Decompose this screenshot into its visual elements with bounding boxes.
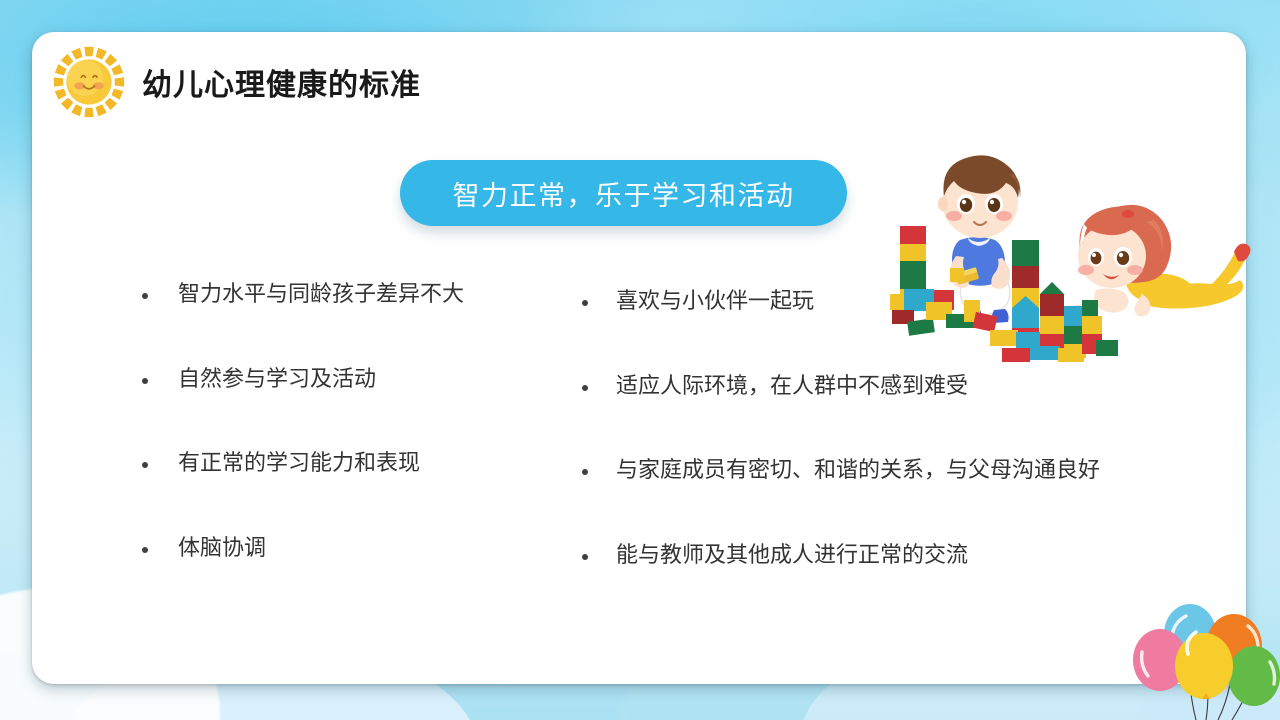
bullet-dot-icon xyxy=(142,547,148,553)
balloons-illustration xyxy=(1130,604,1280,720)
girl-figure xyxy=(1072,205,1251,322)
children-playing-blocks-illustration xyxy=(890,144,1258,362)
content-card: 幼儿心理健康的标准 智力正常，乐于学习和活动 智力水平与同龄孩子差异不大 自然参… xyxy=(32,32,1246,684)
list-item: 自然参与学习及活动 xyxy=(142,365,562,394)
bullet-dot-icon xyxy=(582,300,588,306)
list-item: 能与教师及其他成人进行正常的交流 xyxy=(582,541,1242,570)
slide-header: 幼儿心理健康的标准 xyxy=(42,40,421,124)
list-item: 智力水平与同龄孩子差异不大 xyxy=(142,280,562,309)
bullet-dot-icon xyxy=(582,385,588,391)
bullet-text: 喜欢与小伙伴一起玩 xyxy=(616,287,814,316)
bullet-text: 适应人际环境，在人群中不感到难受 xyxy=(616,372,968,401)
list-item: 适应人际环境，在人群中不感到难受 xyxy=(582,372,1242,401)
bullet-text: 与家庭成员有密切、和谐的关系，与父母沟通良好 xyxy=(616,456,1100,485)
list-item: 体脑协调 xyxy=(142,534,562,563)
sun-icon xyxy=(50,43,128,121)
bullet-dot-icon xyxy=(582,554,588,560)
page-title: 幼儿心理健康的标准 xyxy=(142,60,421,104)
slide-canvas: 幼儿心理健康的标准 智力正常，乐于学习和活动 智力水平与同龄孩子差异不大 自然参… xyxy=(0,0,1280,720)
list-item: 与家庭成员有密切、和谐的关系，与父母沟通良好 xyxy=(582,456,1242,485)
bullet-text: 有正常的学习能力和表现 xyxy=(178,449,420,478)
bullet-dot-icon xyxy=(142,462,148,468)
bullet-text: 能与教师及其他成人进行正常的交流 xyxy=(616,541,968,570)
bullet-text: 体脑协调 xyxy=(178,534,266,563)
bullet-dot-icon xyxy=(142,378,148,384)
bullet-dot-icon xyxy=(582,469,588,475)
bullet-text: 自然参与学习及活动 xyxy=(178,365,376,394)
section-banner-label: 智力正常，乐于学习和活动 xyxy=(453,174,795,213)
bullet-column-left: 智力水平与同龄孩子差异不大 自然参与学习及活动 有正常的学习能力和表现 体脑协调 xyxy=(142,280,562,562)
bullet-dot-icon xyxy=(142,293,148,299)
list-item: 有正常的学习能力和表现 xyxy=(142,449,562,478)
section-banner: 智力正常，乐于学习和活动 xyxy=(400,160,847,226)
bullet-text: 智力水平与同龄孩子差异不大 xyxy=(178,280,464,309)
